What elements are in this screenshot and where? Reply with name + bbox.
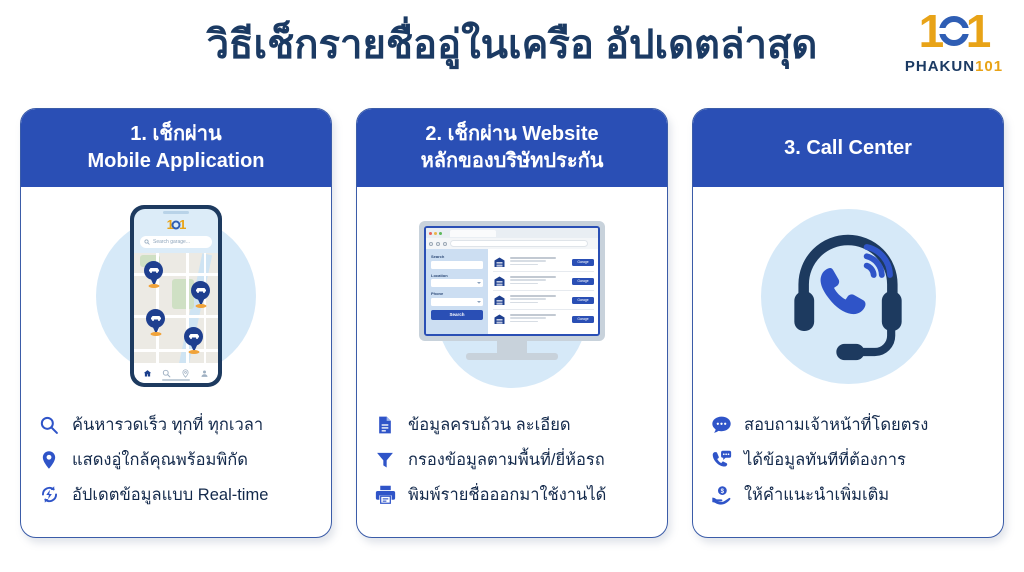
phone-search-placeholder: Search garage... — [153, 239, 190, 245]
card-title-1-line1: 1. เช็กผ่าน — [87, 121, 264, 148]
browser-toolbar — [426, 238, 598, 249]
pin-shadow — [195, 304, 206, 308]
monitor-stand-neck — [497, 341, 527, 353]
result-line — [510, 298, 546, 300]
result-action-button[interactable]: Garage — [572, 297, 594, 304]
browser-content: Search Location Phone Search — [426, 249, 598, 334]
phone-app-logo: 101 — [134, 218, 218, 232]
monitor-frame: Search Location Phone Search — [419, 221, 605, 341]
page-header: วิธีเช็กรายชื่ออู่ในเครือ อัปเดตล่าสุด 1… — [0, 0, 1024, 104]
reload-icon[interactable] — [443, 242, 447, 246]
result-line — [510, 295, 556, 297]
pin-shadow — [188, 350, 199, 354]
phone-chat-icon — [709, 448, 733, 472]
chevron-down-icon — [477, 282, 481, 284]
bullet-label: กรองข้อมูลตามพื้นที่/ยี่ห้อรถ — [408, 450, 605, 470]
bullet-item: กรองข้อมูลตามพื้นที่/ยี่ห้อรถ — [373, 442, 657, 477]
form-label-location: Location — [431, 273, 483, 278]
phone-home-indicator — [162, 379, 190, 381]
bullet-label: สอบถามเจ้าหน้าที่โดยตรง — [744, 415, 928, 435]
brand-ring-icon — [939, 16, 969, 46]
address-bar[interactable] — [450, 240, 588, 247]
card-call-center[interactable]: 3. Call Center — [692, 108, 1004, 538]
form-select-location[interactable] — [431, 279, 483, 287]
document-icon — [373, 413, 397, 437]
card-header-1: 1. เช็กผ่าน Mobile Application — [21, 109, 331, 187]
result-text-lines — [510, 257, 568, 267]
maximize-dot-icon[interactable] — [439, 232, 442, 235]
result-line — [510, 257, 556, 259]
form-select-phone[interactable] — [431, 298, 483, 306]
card-title-1-line2: Mobile Application — [87, 148, 264, 175]
search-icon — [144, 239, 150, 245]
phone-screen: 101 Search garage... — [134, 209, 218, 383]
result-text-lines — [510, 295, 568, 305]
bullet-item: $ ให้คำแนะนำเพิ่มเติม — [709, 477, 993, 512]
card-website[interactable]: 2. เช็กผ่าน Website หลักของบริษัทประกัน — [356, 108, 668, 538]
pin-shadow — [148, 284, 159, 288]
result-action-button[interactable]: Garage — [572, 259, 594, 266]
result-line — [510, 321, 538, 323]
chat-bubble-icon — [709, 413, 733, 437]
browser-window: Search Location Phone Search — [424, 226, 600, 336]
bullet-item: ได้ข้อมูลทันทีที่ต้องการ — [709, 442, 993, 477]
browser-titlebar — [426, 228, 598, 238]
bullet-label: พิมพ์รายชื่อออกมาใช้งานได้ — [408, 485, 606, 505]
car-icon — [148, 267, 160, 274]
car-icon — [150, 315, 162, 322]
pin-shadow — [150, 332, 161, 336]
location-pin-icon[interactable] — [181, 369, 190, 378]
desktop-mockup: Search Location Phone Search — [414, 221, 610, 371]
card-title-3-line1: 3. Call Center — [784, 135, 912, 162]
garage-icon — [493, 275, 506, 287]
refresh-sync-icon — [37, 483, 61, 507]
bullet-label: ได้ข้อมูลทันทีที่ต้องการ — [744, 450, 906, 470]
brand-name-number: 101 — [975, 58, 1003, 75]
garage-icon — [493, 256, 506, 268]
result-text-lines — [510, 276, 568, 286]
result-action-button[interactable]: Garage — [572, 316, 594, 323]
menu-icon[interactable] — [591, 242, 595, 246]
headset-icon — [778, 226, 918, 366]
result-line — [510, 283, 538, 285]
map-pin-garage[interactable] — [191, 281, 210, 306]
card-art-phone: 101 Search garage... — [21, 187, 331, 405]
bullet-item: อัปเดตข้อมูลแบบ Real-time — [37, 477, 321, 512]
card-art-headset — [693, 187, 1003, 405]
card-title-2-line1: 2. เช็กผ่าน Website — [421, 121, 604, 148]
monitor-stand-base — [466, 353, 558, 360]
search-submit-button[interactable]: Search — [431, 310, 483, 320]
brand-logo: 101 PHAKUN101 — [900, 6, 1008, 90]
bullet-label: อัปเดตข้อมูลแบบ Real-time — [72, 485, 268, 505]
result-action-button[interactable]: Garage — [572, 278, 594, 285]
card-2-bullets: ข้อมูลครบถ้วน ละเอียด กรองข้อมูลตามพื้นท… — [357, 405, 667, 537]
garage-icon — [493, 294, 506, 306]
map-pin-garage[interactable] — [184, 327, 203, 352]
search-form-panel: Search Location Phone Search — [426, 249, 488, 334]
phone-notch — [163, 211, 189, 214]
card-3-bullets: สอบถามเจ้าหน้าที่โดยตรง ได้ข้อมูลทันทีที… — [693, 405, 1003, 537]
back-arrow-icon[interactable] — [429, 242, 433, 246]
profile-icon[interactable] — [200, 369, 209, 378]
card-art-desktop: Search Location Phone Search — [357, 187, 667, 405]
result-text-lines — [510, 314, 568, 324]
bullet-item: พิมพ์รายชื่อออกมาใช้งานได้ — [373, 477, 657, 512]
forward-arrow-icon[interactable] — [436, 242, 440, 246]
results-list: Garage — [488, 249, 598, 334]
filter-funnel-icon — [373, 448, 397, 472]
result-row[interactable]: Garage — [493, 253, 594, 272]
infographic-page: วิธีเช็กรายชื่ออู่ในเครือ อัปเดตล่าสุด 1… — [0, 0, 1024, 572]
brand-logo-mark: 101 — [900, 6, 1008, 56]
card-header-2: 2. เช็กผ่าน Website หลักของบริษัทประกัน — [357, 109, 667, 187]
bullet-label: ข้อมูลครบถ้วน ละเอียด — [408, 415, 571, 435]
phone-logo-ring-icon — [172, 221, 181, 230]
car-icon — [195, 287, 207, 294]
search-icon — [37, 413, 61, 437]
result-line — [510, 302, 538, 304]
form-label-search: Search — [431, 254, 483, 259]
card-header-3: 3. Call Center — [693, 109, 1003, 187]
hand-coin-icon: $ — [709, 483, 733, 507]
chevron-down-icon — [477, 301, 481, 303]
form-label-phone: Phone — [431, 291, 483, 296]
phone-mockup: 101 Search garage... — [130, 205, 222, 387]
svg-text:$: $ — [720, 488, 724, 495]
map-pin-garage[interactable] — [144, 261, 163, 286]
bullet-label: ให้คำแนะนำเพิ่มเติม — [744, 485, 889, 505]
form-input-search[interactable] — [431, 261, 483, 269]
map-road — [204, 253, 206, 363]
card-1-bullets: ค้นหารวดเร็ว ทุกที่ ทุกเวลา แสดงอู่ใกล้ค… — [21, 405, 331, 537]
result-line — [510, 314, 556, 316]
phone-map-view[interactable] — [134, 253, 218, 363]
bullet-item: สอบถามเจ้าหน้าที่โดยตรง — [709, 407, 993, 442]
result-row[interactable]: Garage — [493, 272, 594, 291]
result-line — [510, 276, 556, 278]
card-mobile-application[interactable]: 1. เช็กผ่าน Mobile Application 101 — [20, 108, 332, 538]
card-title-2-line2: หลักของบริษัทประกัน — [421, 148, 604, 175]
result-row[interactable]: Garage — [493, 291, 594, 310]
result-row[interactable]: Garage — [493, 310, 594, 328]
result-line — [510, 279, 546, 281]
browser-tab[interactable] — [450, 230, 496, 237]
bullet-item: แสดงอู่ใกล้คุณพร้อมพิกัด — [37, 442, 321, 477]
page-title: วิธีเช็กรายชื่ออู่ในเครือ อัปเดตล่าสุด — [0, 18, 1024, 72]
result-line — [510, 260, 546, 262]
close-dot-icon[interactable] — [429, 232, 432, 235]
car-icon — [188, 333, 200, 340]
bullet-label: แสดงอู่ใกล้คุณพร้อมพิกัด — [72, 450, 248, 470]
minimize-dot-icon[interactable] — [434, 232, 437, 235]
brand-name-text: PHAKUN — [905, 58, 975, 75]
cards-row: 1. เช็กผ่าน Mobile Application 101 — [0, 108, 1024, 548]
bullet-label: ค้นหารวดเร็ว ทุกที่ ทุกเวลา — [72, 415, 263, 435]
phone-search-bar[interactable]: Search garage... — [140, 236, 212, 248]
search-icon[interactable] — [162, 369, 171, 378]
bullet-item: ข้อมูลครบถ้วน ละเอียด — [373, 407, 657, 442]
headset-background-circle — [761, 209, 936, 384]
garage-icon — [493, 313, 506, 325]
printer-icon — [373, 483, 397, 507]
home-icon[interactable] — [143, 369, 152, 378]
result-line — [510, 317, 546, 319]
location-pin-icon — [37, 448, 61, 472]
map-pin-garage[interactable] — [146, 309, 165, 334]
brand-name: PHAKUN101 — [900, 58, 1008, 75]
bullet-item: ค้นหารวดเร็ว ทุกที่ ทุกเวลา — [37, 407, 321, 442]
result-line — [510, 264, 538, 266]
